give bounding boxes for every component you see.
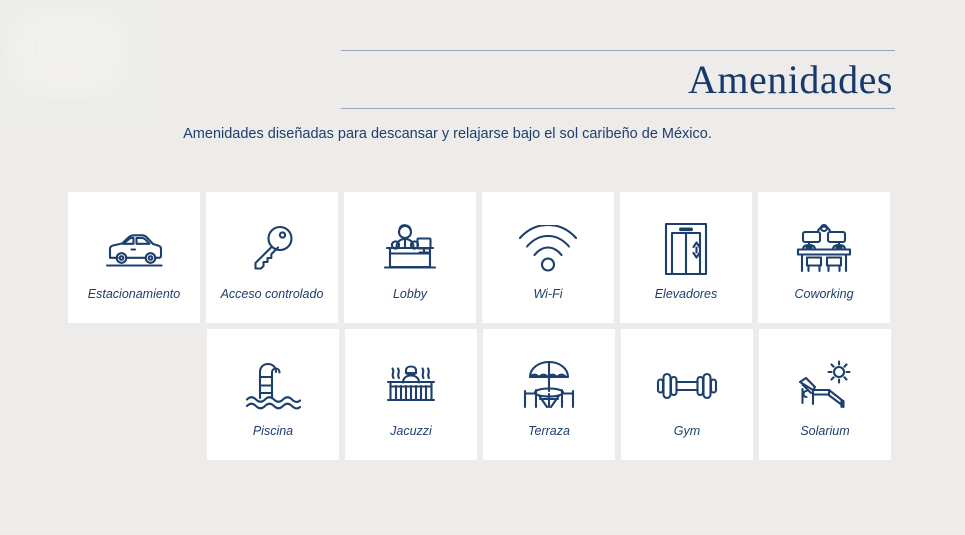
amenity-card-piscina[interactable]: Piscina <box>207 329 339 460</box>
background-accent-shape <box>14 12 124 90</box>
sun-lounger-icon <box>793 355 857 417</box>
amenity-card-lobby[interactable]: Lobby <box>344 192 476 323</box>
amenity-label: Wi-Fi <box>533 288 562 302</box>
header-rule-bottom <box>341 108 895 109</box>
coworking-desk-icon <box>793 218 855 280</box>
amenity-card-wifi[interactable]: Wi-Fi <box>482 192 614 323</box>
amenity-label: Piscina <box>253 425 293 439</box>
amenity-card-acceso-controlado[interactable]: Acceso controlado <box>206 192 338 323</box>
elevator-icon <box>660 218 712 280</box>
amenity-label: Acceso controlado <box>221 288 324 302</box>
amenity-card-coworking[interactable]: Coworking <box>758 192 890 323</box>
amenity-label: Lobby <box>393 288 427 302</box>
pool-ladder-icon <box>242 355 304 417</box>
dumbbell-icon <box>655 355 719 417</box>
amenity-label: Elevadores <box>655 288 718 302</box>
amenities-row-1: Estacionamiento Acceso controlado <box>68 192 895 323</box>
amenity-card-estacionamiento[interactable]: Estacionamiento <box>68 192 200 323</box>
key-icon <box>247 218 297 280</box>
amenity-card-solarium[interactable]: Solarium <box>759 329 891 460</box>
amenity-label: Gym <box>674 425 700 439</box>
car-icon <box>102 218 166 280</box>
amenities-grid: Estacionamiento Acceso controlado <box>68 192 895 466</box>
amenity-label: Coworking <box>794 288 853 302</box>
amenity-card-terraza[interactable]: Terraza <box>483 329 615 460</box>
wifi-icon <box>517 218 579 280</box>
amenity-card-gym[interactable]: Gym <box>621 329 753 460</box>
amenity-label: Jacuzzi <box>390 425 432 439</box>
jacuzzi-icon <box>381 355 441 417</box>
page-title: Amenidades <box>341 51 895 108</box>
amenity-label: Terraza <box>528 425 570 439</box>
amenity-label: Solarium <box>800 425 849 439</box>
amenities-row-2: Piscina Jacuzzi <box>207 329 895 460</box>
page-subtitle: Amenidades diseñadas para descansar y re… <box>0 126 965 142</box>
amenity-card-jacuzzi[interactable]: Jacuzzi <box>345 329 477 460</box>
reception-desk-icon <box>379 218 441 280</box>
amenity-label: Estacionamiento <box>88 288 180 302</box>
amenity-card-elevadores[interactable]: Elevadores <box>620 192 752 323</box>
patio-umbrella-table-icon <box>517 355 581 417</box>
page-header: Amenidades <box>341 50 895 109</box>
